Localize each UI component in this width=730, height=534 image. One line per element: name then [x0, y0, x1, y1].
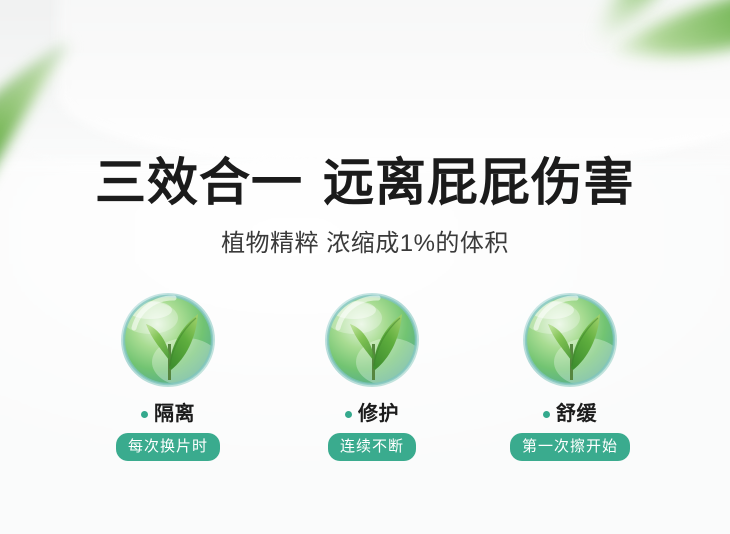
- feature-label-row: 舒缓: [543, 402, 597, 426]
- feature-item-repair: 修护 连续不断: [272, 288, 472, 461]
- feature-item-isolation: 隔离 每次换片时: [68, 288, 268, 461]
- feature-item-soothing: 舒缓 第一次擦开始: [470, 288, 670, 461]
- green-bubble-leaf-icon: [116, 288, 220, 392]
- headline-part-one: 三效合一: [95, 154, 303, 211]
- bullet-dot-icon: [141, 411, 148, 418]
- green-bubble-leaf-icon: [518, 288, 622, 392]
- feature-label-row: 修护: [345, 402, 399, 426]
- background-wave-secondary: [58, 0, 730, 171]
- bullet-dot-icon: [345, 411, 352, 418]
- feature-label-text: 修护: [358, 402, 399, 426]
- feature-label-text: 隔离: [154, 402, 195, 426]
- status-badge: 第一次擦开始: [510, 433, 630, 461]
- feature-label-text: 舒缓: [556, 402, 597, 426]
- product-feature-banner: 三效合一远离屁屁伤害 植物精粹 浓缩成1%的体积: [0, 0, 730, 534]
- page-title: 三效合一远离屁屁伤害: [0, 153, 730, 213]
- feature-label-row: 隔离: [141, 402, 195, 426]
- green-bubble-leaf-icon: [320, 288, 424, 392]
- feature-list: 隔离 每次换片时: [68, 288, 672, 461]
- status-badge: 连续不断: [328, 433, 416, 461]
- page-subtitle: 植物精粹 浓缩成1%的体积: [0, 227, 730, 261]
- headline-part-two: 远离屁屁伤害: [323, 154, 635, 211]
- status-badge: 每次换片时: [116, 433, 220, 461]
- bullet-dot-icon: [543, 411, 550, 418]
